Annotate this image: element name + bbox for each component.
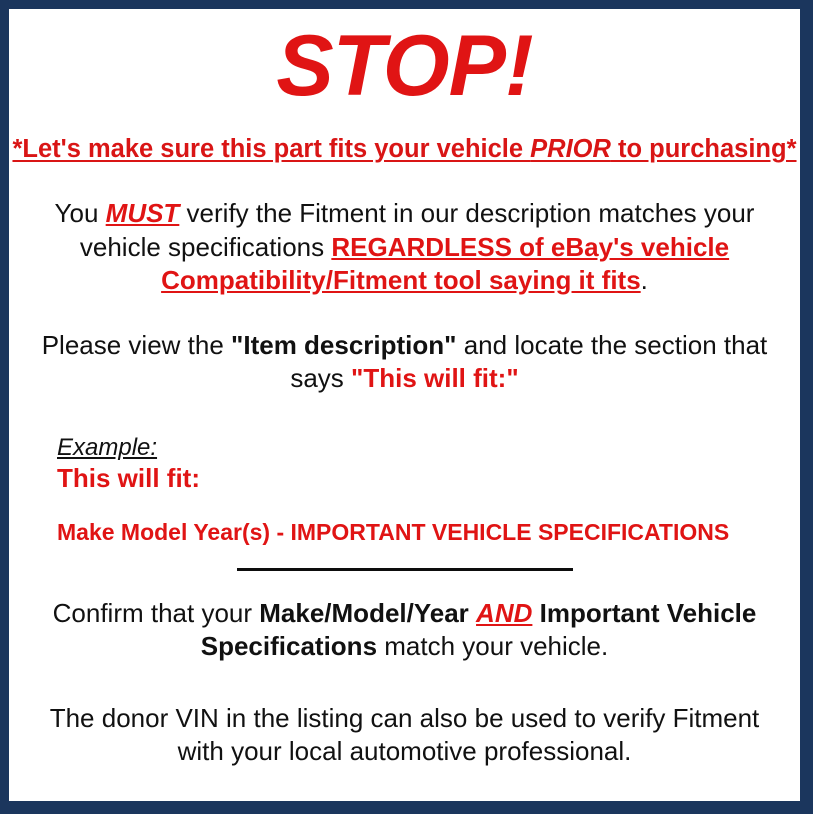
notice-card: STOP! *Let's make sure this part fits yo… xyxy=(9,9,800,801)
item-description-emphasis: "Item description" xyxy=(231,330,456,360)
make-model-year-emphasis: Make/Model/Year xyxy=(259,598,469,628)
example-label-row: Example: xyxy=(57,434,800,462)
divider-wrap xyxy=(9,546,800,571)
confirm-part-4: match your vehicle. xyxy=(377,631,608,661)
paragraph-must-verify: You MUST verify the Fitment in our descr… xyxy=(9,163,800,298)
desc-part-1: Please view the xyxy=(42,330,231,360)
tagline-emphasis-prior: PRIOR xyxy=(530,135,611,163)
confirm-part-1: Confirm that your xyxy=(53,598,260,628)
thanks-message: Thank you for confirming Fitment! xyxy=(9,769,800,801)
tagline-part-1: *Let's make sure this part fits your veh… xyxy=(12,135,530,163)
example-label: Example: xyxy=(57,434,157,462)
tagline: *Let's make sure this part fits your veh… xyxy=(9,109,800,163)
example-fit-heading: This will fit: xyxy=(57,461,800,494)
this-will-fit-quote: "This will fit:" xyxy=(351,363,519,393)
example-spec-line: Make Model Year(s) - IMPORTANT VEHICLE S… xyxy=(57,494,800,545)
confirm-part-2 xyxy=(469,598,476,628)
and-emphasis: AND xyxy=(476,598,532,628)
must-emphasis: MUST xyxy=(106,198,180,228)
paragraph-donor-vin: The donor VIN in the listing can also be… xyxy=(9,664,800,769)
notice-border-frame: STOP! *Let's make sure this part fits yo… xyxy=(0,0,813,814)
tagline-part-2: to purchasing* xyxy=(611,135,797,163)
example-block: Example: This will fit: Make Model Year(… xyxy=(9,396,800,546)
paragraph-confirm: Confirm that your Make/Model/Year AND Im… xyxy=(9,571,800,664)
confirm-part-3 xyxy=(532,598,539,628)
paragraph-item-description: Please view the "Item description" and l… xyxy=(9,298,800,396)
must-part-3: . xyxy=(641,265,648,295)
must-part-1: You xyxy=(55,198,106,228)
horizontal-divider xyxy=(237,568,573,571)
page-title: STOP! xyxy=(9,9,800,109)
